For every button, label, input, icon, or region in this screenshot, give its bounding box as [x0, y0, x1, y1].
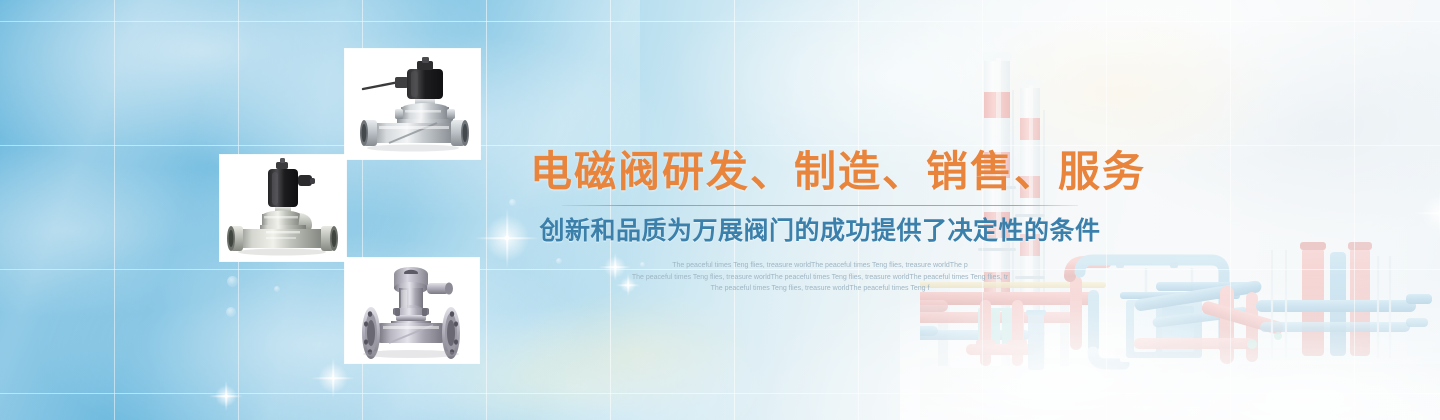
- product-tile-2[interactable]: [220, 155, 346, 261]
- banner-subheadline: 创新和品质为万展阀门的成功提供了决定性的条件: [530, 216, 1110, 246]
- hero-banner: 电磁阀研发、制造、销售、服务 创新和品质为万展阀门的成功提供了决定性的条件 Th…: [0, 0, 1440, 420]
- product-tile-1[interactable]: [345, 49, 480, 159]
- product-tile-3[interactable]: [345, 258, 479, 363]
- blurb-line-2: The peaceful times Teng flies, treasure …: [570, 272, 1070, 284]
- banner-blurb: The peaceful times Teng flies, treasure …: [585, 260, 1055, 295]
- blurb-line-3: The peaceful times Teng flies, treasure …: [585, 283, 1055, 295]
- blurb-line-1: The peaceful times Teng flies, treasure …: [585, 260, 1055, 272]
- banner-headline: 电磁阀研发、制造、销售、服务: [530, 148, 1110, 195]
- banner-copy: 电磁阀研发、制造、销售、服务 创新和品质为万展阀门的成功提供了决定性的条件 Th…: [530, 148, 1110, 295]
- headline-divider: [562, 205, 1078, 206]
